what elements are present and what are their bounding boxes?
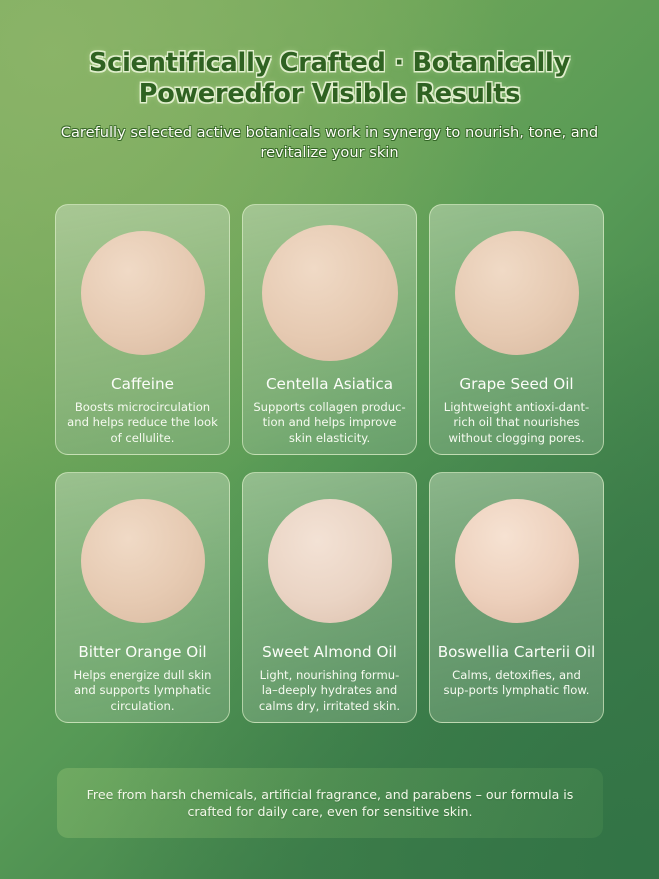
disclaimer-banner: Free from harsh chemicals, artificial fr… (57, 768, 603, 838)
header: Scientifically Crafted · Botanically Pow… (0, 0, 659, 162)
ingredient-description: Calms, detoxifies, and sup-ports lymphat… (430, 668, 603, 699)
page-title: Scientifically Crafted · Botanically Pow… (30, 48, 630, 110)
ingredient-card-boswellia-carterii-oil[interactable]: Boswellia Carterii Oil Calms, detoxifies… (429, 472, 604, 723)
ingredient-title: Sweet Almond Oil (262, 644, 397, 661)
coffee-beans-icon (66, 216, 219, 369)
infographic-page: Scientifically Crafted · Botanically Pow… (0, 0, 659, 879)
ingredient-card-caffeine[interactable]: Caffeine Boosts microcirculation and hel… (55, 204, 230, 455)
grape-seeds-icon (440, 216, 593, 369)
orange-blossom-flower-icon (66, 484, 219, 637)
ingredient-card-centella-asiatica[interactable]: Centella Asiatica Supports collagen prod… (242, 204, 417, 455)
ingredient-title: Boswellia Carterii Oil (438, 644, 596, 661)
ingredient-description: Helps energize dull skin and supports ly… (56, 668, 229, 715)
ingredient-card-bitter-orange-oil[interactable]: Bitter Orange Oil Helps energize dull sk… (55, 472, 230, 723)
ingredient-title: Bitter Orange Oil (78, 644, 206, 661)
ingredient-card-grape-seed-oil[interactable]: Grape Seed Oil Lightweight antioxi-dant-… (429, 204, 604, 455)
disclaimer-text: Free from harsh chemicals, artificial fr… (73, 786, 588, 821)
ingredient-title: Caffeine (111, 376, 174, 393)
ingredient-description: Supports collagen produc-tion and helps … (243, 400, 416, 447)
centella-leaf-icon (253, 216, 406, 369)
ingredient-description: Lightweight antioxi-dant-rich oil that n… (430, 400, 603, 447)
ingredient-description: Light, nourishing formu-la–deeply hydrat… (243, 668, 416, 715)
ingredient-description: Boosts microcirculation and helps reduce… (56, 400, 229, 447)
ingredient-title: Grape Seed Oil (459, 376, 573, 393)
ingredient-card-sweet-almond-oil[interactable]: Sweet Almond Oil Light, nourishing formu… (242, 472, 417, 723)
ingredient-title: Centella Asiatica (266, 376, 393, 393)
ingredient-grid: Caffeine Boosts microcirculation and hel… (55, 204, 604, 723)
page-subtitle: Carefully selected active botanicals wor… (50, 123, 610, 162)
almonds-icon (253, 484, 406, 637)
boswellia-fruit-icon (440, 484, 593, 637)
